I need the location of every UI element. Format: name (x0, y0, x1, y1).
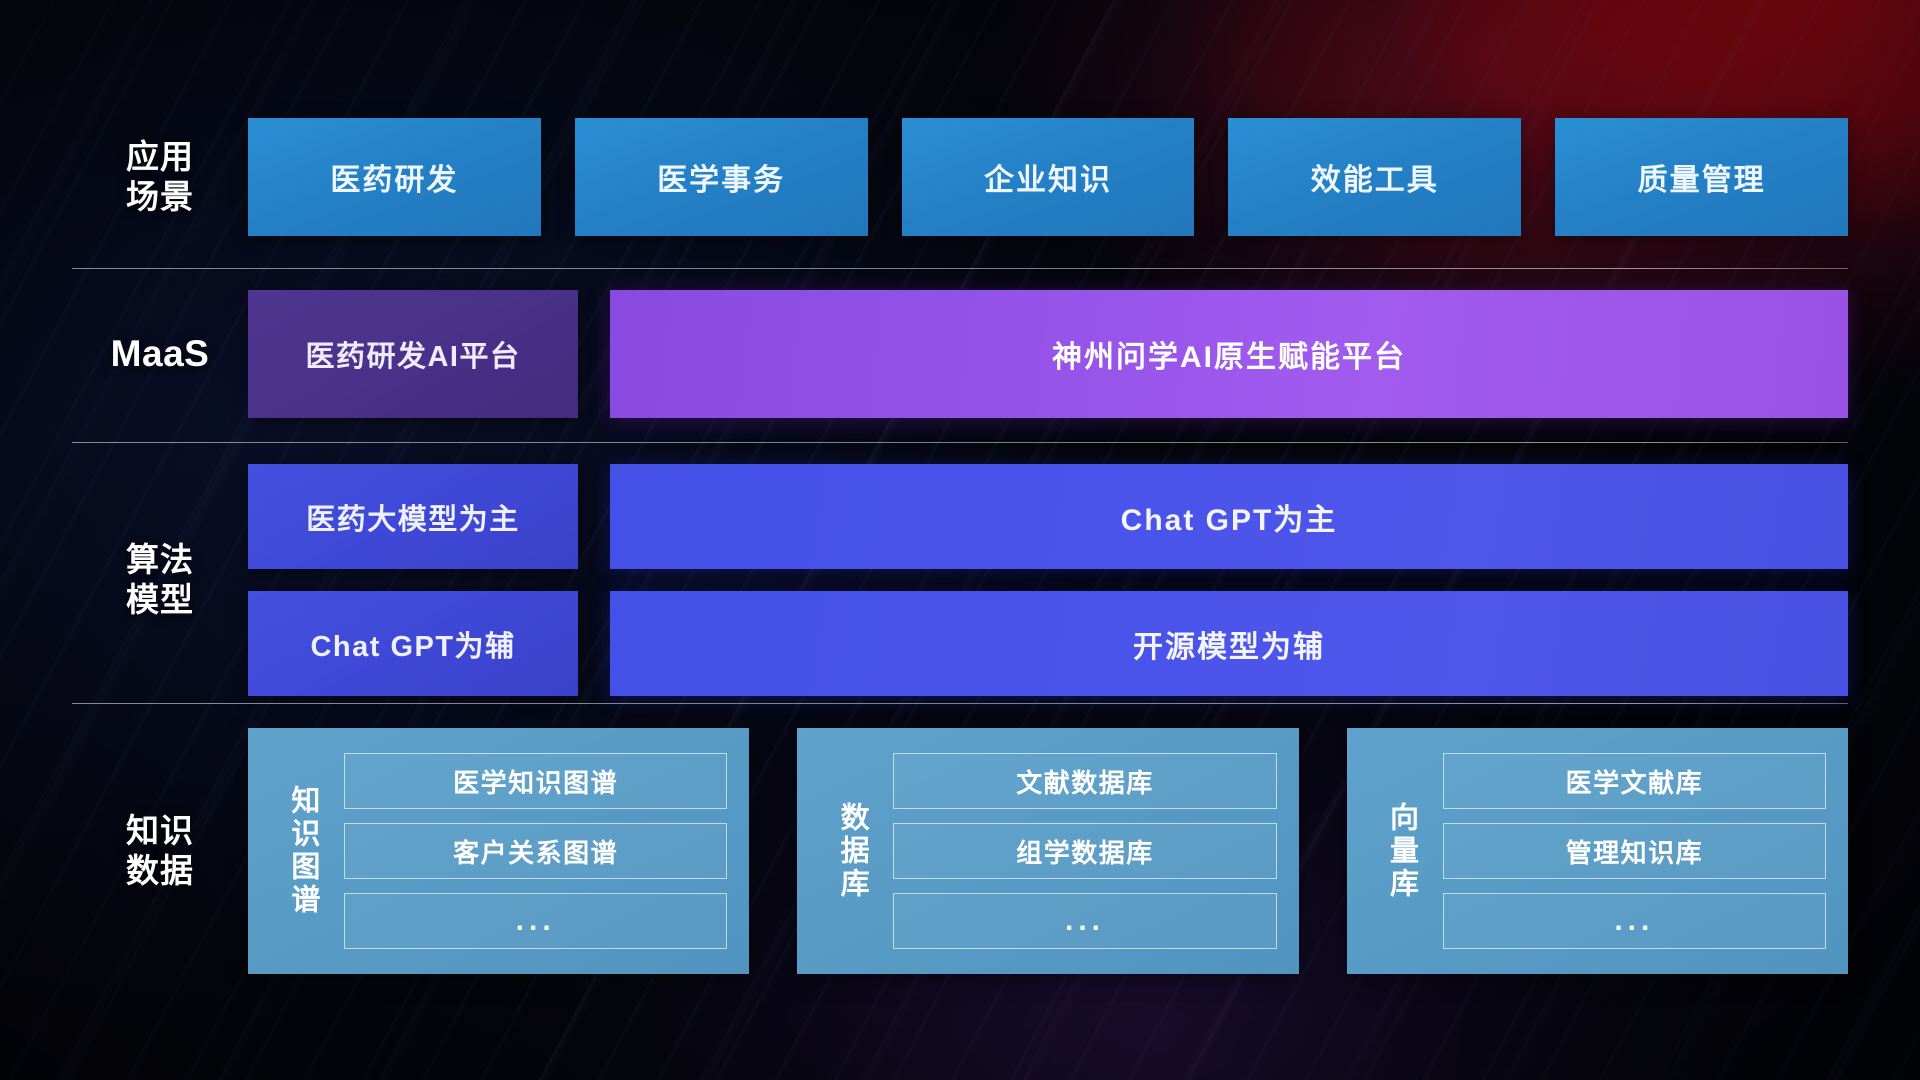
algorithm-row-primary: 医药大模型为主 Chat GPT为主 (248, 464, 1848, 569)
knowledge-group-knowledge-graph[interactable]: 知识图谱 医学知识图谱 客户关系图谱 ... (248, 728, 749, 974)
knowledge-data-groups: 知识图谱 医学知识图谱 客户关系图谱 ... 数据库 文献数据库 组学数据库 .… (248, 728, 1848, 974)
knowledge-item-medical-knowledge-graph[interactable]: 医学知识图谱 (344, 753, 727, 809)
algo-box-medicine-llm-primary[interactable]: 医药大模型为主 (248, 464, 578, 569)
application-scenario-boxes: 医药研发 医学事务 企业知识 效能工具 质量管理 (248, 118, 1848, 236)
knowledge-item-management-knowledge-store[interactable]: 管理知识库 (1443, 823, 1826, 879)
app-box-enterprise-knowledge[interactable]: 企业知识 (902, 118, 1195, 236)
knowledge-group-items-database: 文献数据库 组学数据库 ... (893, 753, 1276, 949)
maas-box-medicine-ai-platform[interactable]: 医药研发AI平台 (248, 290, 578, 418)
knowledge-group-title-vector-store: 向量库 (1365, 802, 1437, 901)
tier-label-algorithm-models: 算法 模型 (72, 540, 248, 621)
tier-label-application-scenarios: 应用 场景 (72, 137, 248, 218)
tier-label-knowledge-data: 知识 数据 (72, 811, 248, 892)
knowledge-item-more-database[interactable]: ... (893, 893, 1276, 949)
knowledge-group-database[interactable]: 数据库 文献数据库 组学数据库 ... (797, 728, 1298, 974)
knowledge-group-items-vector-store: 医学文献库 管理知识库 ... (1443, 753, 1826, 949)
algo-box-chatgpt-secondary[interactable]: Chat GPT为辅 (248, 591, 578, 696)
tier-maas: MaaS 医药研发AI平台 神州问学AI原生赋能平台 (72, 290, 1848, 418)
app-box-quality-management[interactable]: 质量管理 (1555, 118, 1848, 236)
architecture-diagram: 应用 场景 医药研发 医学事务 企业知识 效能工具 质量管理 MaaS 医药研发… (0, 0, 1920, 1080)
tier-algorithm-models: 算法 模型 医药大模型为主 Chat GPT为主 Chat GPT为辅 开源模型… (72, 464, 1848, 696)
algorithm-model-rows: 医药大模型为主 Chat GPT为主 Chat GPT为辅 开源模型为辅 (248, 464, 1848, 696)
tier-label-maas: MaaS (72, 331, 248, 376)
knowledge-group-items-knowledge-graph: 医学知识图谱 客户关系图谱 ... (344, 753, 727, 949)
knowledge-item-customer-relation-graph[interactable]: 客户关系图谱 (344, 823, 727, 879)
app-box-efficiency-tools[interactable]: 效能工具 (1228, 118, 1521, 236)
knowledge-item-more-knowledge-graph[interactable]: ... (344, 893, 727, 949)
algo-box-chatgpt-primary[interactable]: Chat GPT为主 (610, 464, 1848, 569)
app-box-medical-affairs[interactable]: 医学事务 (575, 118, 868, 236)
app-box-medicine-rd[interactable]: 医药研发 (248, 118, 541, 236)
knowledge-group-title-database: 数据库 (815, 802, 887, 901)
knowledge-item-literature-database[interactable]: 文献数据库 (893, 753, 1276, 809)
divider-maas-algo (72, 442, 1848, 443)
tier-application-scenarios: 应用 场景 医药研发 医学事务 企业知识 效能工具 质量管理 (72, 118, 1848, 236)
slide-canvas: 应用 场景 医药研发 医学事务 企业知识 效能工具 质量管理 MaaS 医药研发… (0, 0, 1920, 1080)
knowledge-item-more-vector-store[interactable]: ... (1443, 893, 1826, 949)
algorithm-row-secondary: Chat GPT为辅 开源模型为辅 (248, 591, 1848, 696)
maas-boxes: 医药研发AI平台 神州问学AI原生赋能平台 (248, 290, 1848, 418)
knowledge-item-omics-database[interactable]: 组学数据库 (893, 823, 1276, 879)
maas-box-shenzhou-wenxue-platform[interactable]: 神州问学AI原生赋能平台 (610, 290, 1848, 418)
divider-algo-knowledge (72, 703, 1848, 704)
knowledge-group-vector-store[interactable]: 向量库 医学文献库 管理知识库 ... (1347, 728, 1848, 974)
algo-box-opensource-secondary[interactable]: 开源模型为辅 (610, 591, 1848, 696)
tier-knowledge-data: 知识 数据 知识图谱 医学知识图谱 客户关系图谱 ... 数据库 文献数据库 (72, 728, 1848, 974)
knowledge-group-title-knowledge-graph: 知识图谱 (266, 785, 338, 917)
divider-apps-maas (72, 268, 1848, 269)
knowledge-item-medical-literature-store[interactable]: 医学文献库 (1443, 753, 1826, 809)
